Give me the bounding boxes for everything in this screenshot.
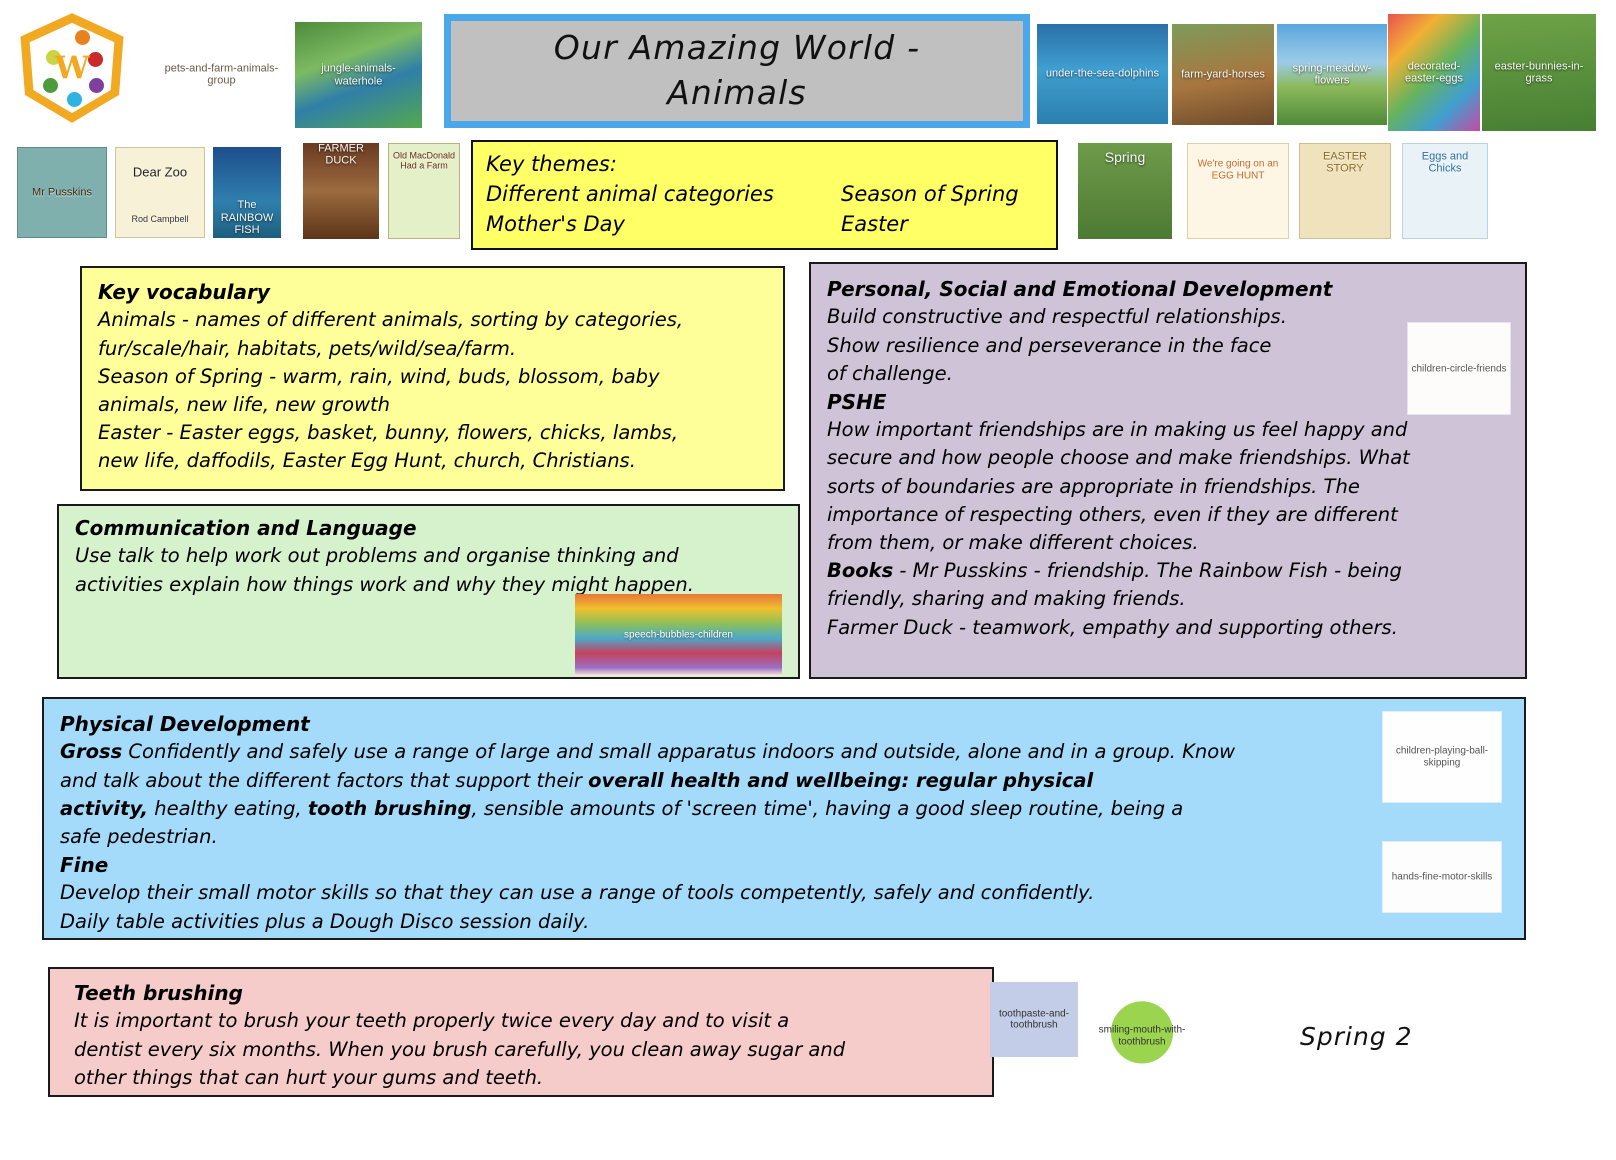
key-themes-row-1: Different animal categories Season of Sp… xyxy=(486,180,1056,210)
communication-line-1: Use talk to help work out problems and o… xyxy=(75,542,784,570)
book-title-3: FARMER DUCK xyxy=(303,143,379,167)
gross-label: Gross xyxy=(60,740,122,763)
key-vocabulary-line-6: new life, daffodils, Easter Egg Hunt, ch… xyxy=(98,447,769,475)
key-vocabulary-line-2: fur/scale/hair, habitats, pets/wild/sea/… xyxy=(98,335,769,363)
speech-bubbles-children-image: speech-bubbles-children xyxy=(575,594,782,676)
key-vocabulary-box: Key vocabulary Animals - names of differ… xyxy=(80,266,785,491)
physical-gross-line-3: activity, healthy eating, tooth brushing… xyxy=(60,795,1510,823)
page-title: Our Amazing World - Animals xyxy=(554,26,920,115)
book-cover-old-macdonald: Old MacDonald Had a Farm xyxy=(388,143,460,239)
book-cover-egg-hunt: We're going on an EGG HUNT xyxy=(1187,143,1289,239)
gross-text-d: , sensible amounts of 'screen time', hav… xyxy=(471,797,1183,820)
book-cover-easter-story: EASTER STORY xyxy=(1299,143,1391,239)
key-vocabulary-line-1: Animals - names of different animals, so… xyxy=(98,306,769,334)
term-label: Spring 2 xyxy=(1300,1022,1413,1051)
header-image-jungle-animals: jungle-animals-waterhole xyxy=(295,22,422,128)
teeth-image-right-label: smiling-mouth-with-toothbrush xyxy=(1098,1025,1186,1048)
physical-development-box: Physical Development Gross Confidently a… xyxy=(42,697,1526,940)
key-vocabulary-line-3: Season of Spring - warm, rain, wind, bud… xyxy=(98,363,769,391)
header-image-spring-meadow: spring-meadow-flowers xyxy=(1277,24,1387,125)
pshe-line-4: importance of respecting others, even if… xyxy=(827,501,1513,529)
book-title-7: EASTER STORY xyxy=(1300,150,1390,175)
psed-image-label: children-circle-friends xyxy=(1408,363,1510,375)
header-image-pets-and-farm-animals: pets-and-farm-animals-group xyxy=(150,22,293,127)
physical-gross-line-2: and talk about the different factors tha… xyxy=(60,767,1510,795)
school-logo: W xyxy=(8,6,136,130)
key-vocabulary-line-5: Easter - Easter eggs, basket, bunny, flo… xyxy=(98,419,769,447)
teeth-image-left-label: toothpaste-and-toothbrush xyxy=(990,1008,1078,1031)
psed-books-line-2: friendly, sharing and making friends. xyxy=(827,585,1513,613)
key-themes-heading: Key themes: xyxy=(486,150,1056,180)
logo-hexagon-icon: W xyxy=(8,6,136,130)
physical-heading: Physical Development xyxy=(60,710,1510,738)
key-themes-row-2: Mother's Day Easter xyxy=(486,210,1056,240)
speech-bubbles-label: speech-bubbles-children xyxy=(575,629,782,641)
header-image-4-label: farm-yard-horses xyxy=(1172,68,1274,81)
header-image-easter-bunnies: easter-bunnies-in-grass xyxy=(1482,14,1596,131)
key-theme-animal-categories: Different animal categories xyxy=(486,180,841,210)
gross-text-c: healthy eating, xyxy=(148,797,308,820)
smiling-mouth-with-toothbrush-image: smiling-mouth-with-toothbrush xyxy=(1098,1000,1186,1072)
header-image-5-label: spring-meadow-flowers xyxy=(1277,62,1387,87)
header-image-under-the-sea: under-the-sea-dolphins xyxy=(1037,24,1168,124)
teeth-line-1: It is important to brush your teeth prop… xyxy=(74,1007,980,1035)
gross-bold-c: activity, xyxy=(60,797,148,820)
header-image-1-label: pets-and-farm-animals-group xyxy=(150,62,293,87)
communication-heading: Communication and Language xyxy=(75,514,784,542)
children-circle-friends-image: children-circle-friends xyxy=(1407,322,1511,415)
header-image-2-label: jungle-animals-waterhole xyxy=(295,62,422,87)
communication-and-language-box: Communication and Language Use talk to h… xyxy=(57,504,800,679)
key-vocabulary-line-4: animals, new life, new growth xyxy=(98,391,769,419)
physical-fine-line-2: Daily table activities plus a Dough Disc… xyxy=(60,908,1510,936)
header-image-7-label: easter-bunnies-in-grass xyxy=(1482,60,1596,85)
logo-letter: W xyxy=(55,50,90,86)
book-title-8: Eggs and Chicks xyxy=(1403,150,1487,175)
psed-heading: Personal, Social and Emotional Developme… xyxy=(827,275,1513,303)
header-image-farm-yard: farm-yard-horses xyxy=(1172,24,1274,125)
psed-books-line-3: Farmer Duck - teamwork, empathy and supp… xyxy=(827,614,1513,642)
book-cover-dear-zoo: Dear Zoo Rod Campbell xyxy=(115,147,205,238)
gross-text-b: and talk about the different factors tha… xyxy=(60,769,588,792)
header-image-3-label: under-the-sea-dolphins xyxy=(1037,68,1168,81)
book-cover-mr-pusskins: Mr Pusskins xyxy=(17,147,107,238)
physical-gross-line-1: Gross Confidently and safely use a range… xyxy=(60,738,1510,766)
hands-fine-motor-skills-image: hands-fine-motor-skills xyxy=(1382,841,1502,913)
header-image-6-label: decorated-easter-eggs xyxy=(1388,60,1480,85)
pd-image-top-label: children-playing-ball-skipping xyxy=(1383,746,1501,769)
header-image-easter-eggs: decorated-easter-eggs xyxy=(1388,14,1480,131)
key-theme-season-of-spring: Season of Spring xyxy=(841,180,1019,210)
toothpaste-and-toothbrush-image: toothpaste-and-toothbrush xyxy=(990,982,1078,1057)
psed-box: Personal, Social and Emotional Developme… xyxy=(809,262,1527,679)
teeth-line-3: other things that can hurt your gums and… xyxy=(74,1064,980,1092)
key-theme-mothers-day: Mother's Day xyxy=(486,210,841,240)
pd-image-bottom-label: hands-fine-motor-skills xyxy=(1383,871,1501,883)
gross-bold-b: overall health and wellbeing: regular ph… xyxy=(588,769,1093,792)
gross-bold-d: tooth brushing xyxy=(308,797,472,820)
book-cover-spring: Spring xyxy=(1078,143,1172,239)
book-author-1: Rod Campbell xyxy=(116,214,204,224)
pshe-line-1: How important friendships are in making … xyxy=(827,416,1513,444)
fine-label: Fine xyxy=(60,851,1510,879)
pshe-line-3: sorts of boundaries are appropriate in f… xyxy=(827,473,1513,501)
book-cover-rainbow-fish: The RAINBOW FISH xyxy=(213,147,281,238)
book-title-2: The RAINBOW FISH xyxy=(213,199,281,237)
gross-text-a: Confidently and safely use a range of la… xyxy=(122,740,1235,763)
key-themes-box: Key themes: Different animal categories … xyxy=(471,140,1058,250)
key-vocabulary-heading: Key vocabulary xyxy=(98,278,769,306)
book-title-4: Old MacDonald Had a Farm xyxy=(389,151,459,172)
book-title-5: Spring xyxy=(1078,149,1172,165)
pshe-line-2: secure and how people choose and make fr… xyxy=(827,444,1513,472)
book-title-1: Dear Zoo xyxy=(116,165,204,180)
psed-books-line-1: Books - Mr Pusskins - friendship. The Ra… xyxy=(827,557,1513,585)
psed-books-text-1: - Mr Pusskins - friendship. The Rainbow … xyxy=(893,559,1402,582)
page-title-box: Our Amazing World - Animals xyxy=(444,14,1030,128)
psed-books-label: Books xyxy=(827,559,893,582)
book-title-0: Mr Pusskins xyxy=(18,186,106,199)
pshe-line-5: from them, or make different choices. xyxy=(827,529,1513,557)
teeth-heading: Teeth brushing xyxy=(74,979,980,1007)
book-title-6: We're going on an EGG HUNT xyxy=(1188,159,1288,182)
teeth-line-2: dentist every six months. When you brush… xyxy=(74,1036,980,1064)
children-playing-ball-skipping-image: children-playing-ball-skipping xyxy=(1382,711,1502,803)
topic-web-page: W pets-and-farm-animals-group jungle-ani… xyxy=(0,0,1616,1160)
book-cover-eggs-and-chicks: Eggs and Chicks xyxy=(1402,143,1488,239)
key-theme-easter: Easter xyxy=(841,210,908,240)
book-cover-farmer-duck: FARMER DUCK xyxy=(303,143,379,239)
teeth-brushing-box: Teeth brushing It is important to brush … xyxy=(48,967,994,1097)
physical-fine-line-1: Develop their small motor skills so that… xyxy=(60,879,1510,907)
physical-gross-line-4: safe pedestrian. xyxy=(60,823,1510,851)
